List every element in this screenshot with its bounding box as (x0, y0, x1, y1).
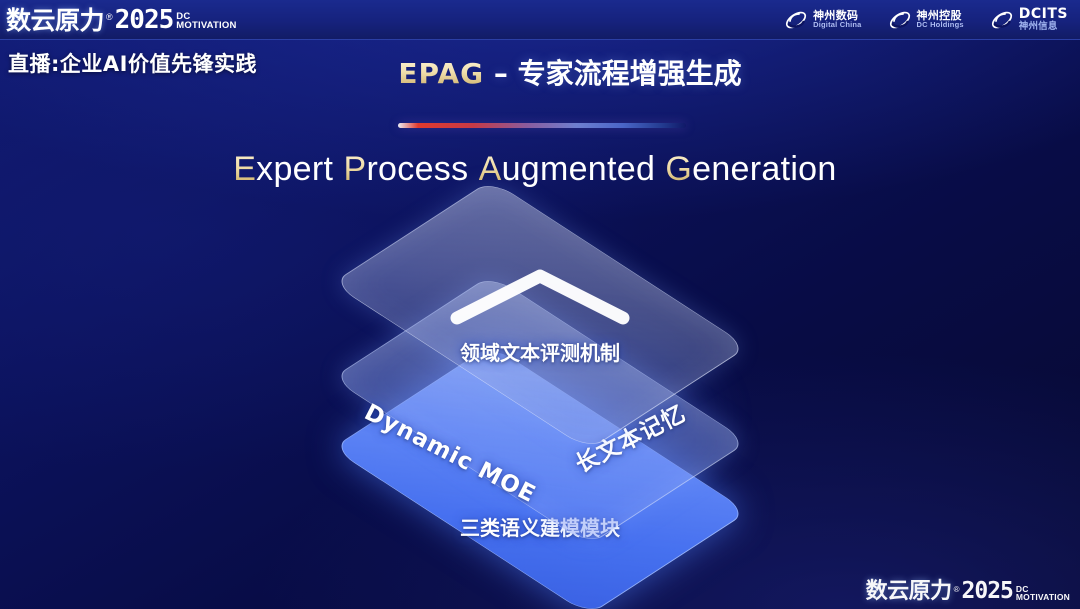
event-logo: 数云原力 ® 2025 DC MOTIVATION (6, 7, 237, 33)
partner-text: DCITS 神州信息 (1019, 7, 1068, 32)
subtitle-word-augmented: Augmented (479, 150, 656, 189)
watermark-dc: DC MOTIVATION (1016, 585, 1070, 601)
subtitle-rest: xpert (256, 150, 333, 188)
title-acronym: EPAG (398, 57, 484, 90)
partner-text: 神州数码 Digital China (813, 10, 861, 29)
watermark-registered-icon: ® (954, 586, 960, 594)
slide-canvas: 数云原力 ® 2025 DC MOTIVATION 神州数码 Digital C… (0, 0, 1080, 609)
watermark-year: 2025 (962, 580, 1013, 603)
partner-logo-dcits: DCITS 神州信息 (990, 7, 1068, 32)
subtitle-word-generation: Generation (665, 150, 836, 189)
subtitle-rest: rocess (366, 150, 468, 188)
subtitle-cap: E (233, 150, 256, 188)
registered-mark-icon: ® (106, 13, 113, 22)
partner-logo-group: 神州数码 Digital China 神州控股 DC Holdings (784, 7, 1072, 32)
swoosh-logo-icon (990, 8, 1014, 32)
partner-logo-digital-china: 神州数码 Digital China (784, 8, 861, 32)
corner-watermark: 数云原力 ® 2025 DC MOTIVATION (866, 580, 1070, 603)
swoosh-logo-icon (784, 8, 808, 32)
subtitle-word-process: Process (343, 150, 468, 189)
subtitle-word-expert: Expert (233, 150, 333, 189)
watermark-dc-line2: MOTIVATION (1016, 593, 1070, 601)
page-subtitle: ExpertProcessAugmentedGeneration (0, 150, 1080, 189)
chevron-up-icon (445, 262, 635, 332)
swoosh-logo-icon (888, 8, 912, 32)
partner-name-en: DC Holdings (917, 21, 964, 29)
title-chinese: 专家流程增强生成 (518, 57, 742, 90)
event-logo-dc: DC MOTIVATION (176, 12, 236, 30)
watermark-cn: 数云原力 (866, 581, 952, 603)
subtitle-cap: A (479, 150, 502, 188)
event-logo-cn: 数云原力 (6, 8, 104, 33)
partner-name-en: 神州信息 (1019, 22, 1068, 32)
title-dash: – (484, 57, 518, 90)
event-logo-year: 2025 (115, 7, 174, 33)
header-bar: 数云原力 ® 2025 DC MOTIVATION 神州数码 Digital C… (0, 0, 1080, 40)
subtitle-cap: G (665, 150, 692, 188)
partner-name-cn: DCITS (1019, 7, 1068, 22)
subtitle-rest: ugmented (502, 150, 656, 188)
subtitle-rest: eneration (692, 150, 836, 188)
event-logo-dc-line2: MOTIVATION (176, 21, 236, 30)
partner-text: 神州控股 DC Holdings (917, 10, 964, 29)
page-title: EPAG – 专家流程增强生成 (0, 52, 1080, 92)
partner-name-en: Digital China (813, 21, 861, 29)
subtitle-cap: P (343, 150, 366, 188)
title-divider (398, 123, 686, 128)
partner-logo-dc-holdings: 神州控股 DC Holdings (888, 8, 964, 32)
